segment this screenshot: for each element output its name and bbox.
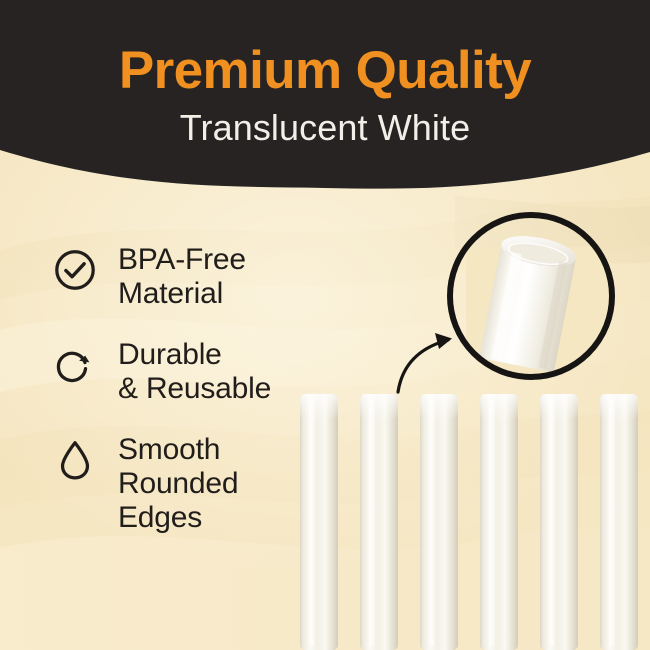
straw-item <box>300 394 338 650</box>
magnifier-ring <box>447 212 615 380</box>
magnifier-callout <box>447 212 615 380</box>
feature-item-bpa-free: BPA-Free Material <box>52 243 352 310</box>
page-subtitle: Translucent White <box>0 110 650 146</box>
header-shape <box>0 0 650 200</box>
straw-item <box>480 394 518 650</box>
straw-item <box>540 394 578 650</box>
page-title: Premium Quality <box>0 44 650 97</box>
feature-label-bpa-free: BPA-Free Material <box>118 243 246 310</box>
straw-item <box>420 394 458 650</box>
straw-item <box>600 394 638 650</box>
check-circle-icon <box>52 247 98 293</box>
refresh-circle-icon <box>52 342 98 388</box>
feature-line-1: Durable <box>118 338 222 371</box>
straw-item <box>360 394 398 650</box>
straw-group <box>0 386 650 650</box>
header-banner: Premium Quality Translucent White <box>0 0 650 200</box>
feature-line-2: Material <box>118 277 246 311</box>
feature-line-1: BPA-Free <box>118 243 246 276</box>
product-infographic: Premium Quality Translucent White BPA-Fr… <box>0 0 650 650</box>
